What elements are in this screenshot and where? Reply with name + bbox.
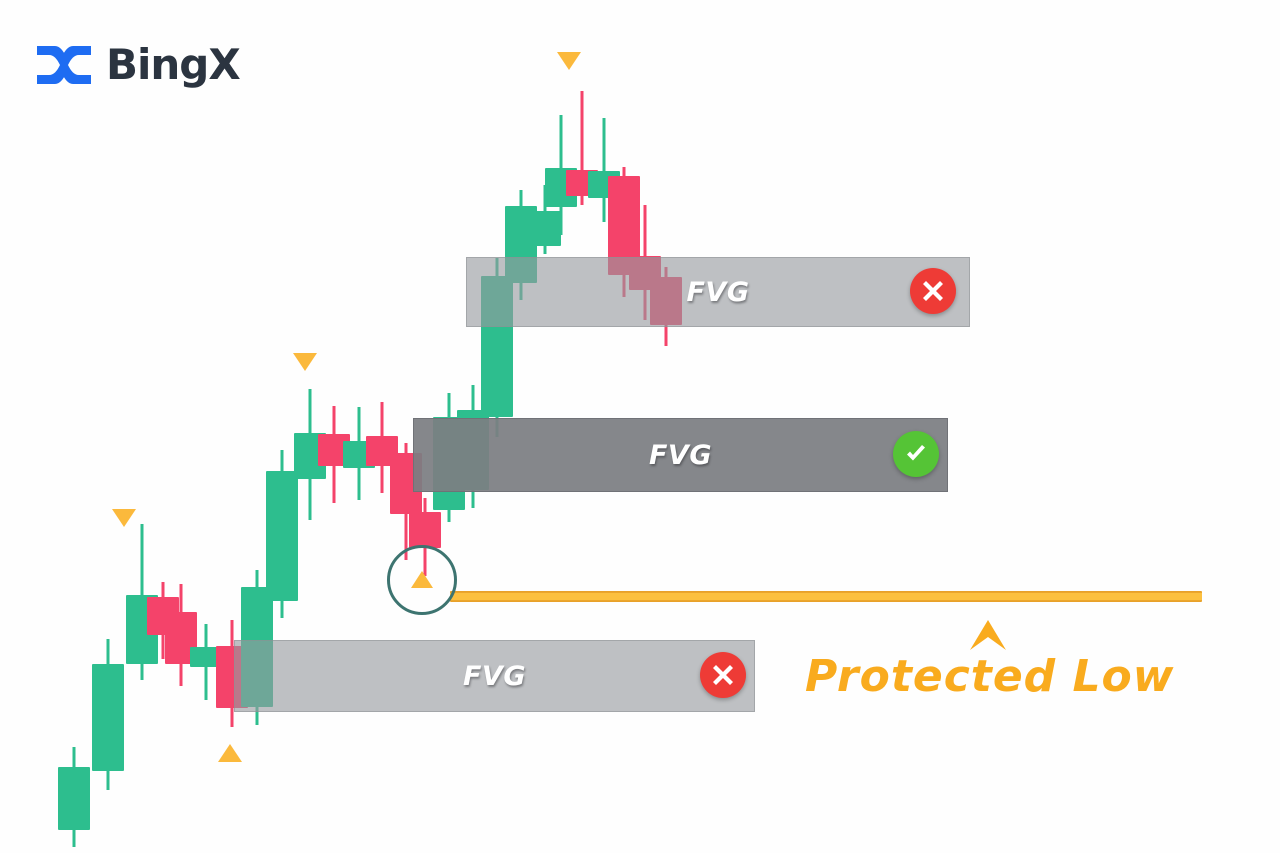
protected-low-line xyxy=(450,591,1202,602)
protected-low-arrow-icon xyxy=(968,620,1008,652)
protected-low-label: Protected Low xyxy=(805,651,1174,702)
down-triangle-marker-icon xyxy=(293,353,317,371)
down-triangle-marker-icon xyxy=(112,509,136,527)
down-triangle-marker-icon xyxy=(557,52,581,70)
protected-low-caption: Protected Low xyxy=(805,655,1165,699)
up-triangle-marker-icon xyxy=(218,744,242,762)
markers-layer xyxy=(0,0,1280,853)
chart-illustration: BingX FVGFVGFVG Protected Low xyxy=(0,0,1280,853)
swing-low-up-triangle-icon xyxy=(411,571,433,588)
